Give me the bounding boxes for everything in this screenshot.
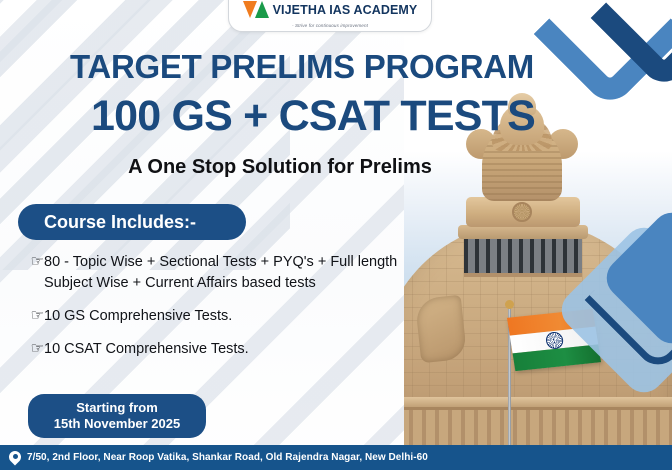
va-monogram-icon [243, 1, 269, 18]
academy-logo: VIJETHA IAS ACADEMY - Strive for continu… [228, 0, 432, 32]
pointing-hand-icon: ☜ [22, 253, 44, 272]
academy-tagline: - Strive for continuous improvement [292, 23, 368, 28]
list-item: ☜ 10 CSAT Comprehensive Tests. [22, 339, 442, 360]
promotional-poster: VIJETHA IAS ACADEMY - Strive for continu… [0, 0, 672, 470]
course-includes-list: ☜ 80 - Topic Wise + Sectional Tests + PY… [22, 252, 442, 372]
dome-drum-cap [458, 225, 588, 239]
pointing-hand-icon: ☜ [22, 340, 44, 359]
pillar-abacus [466, 197, 580, 227]
start-date-label: Starting from [76, 400, 158, 416]
ashoka-chakra-relief-icon [512, 202, 532, 222]
list-item: ☜ 80 - Topic Wise + Sectional Tests + PY… [22, 252, 442, 294]
academy-name: VIJETHA IAS ACADEMY [273, 3, 418, 17]
program-eyebrow-heading: TARGET PRELIMS PROGRAM [0, 48, 604, 86]
list-item-label: 10 CSAT Comprehensive Tests. [44, 339, 249, 360]
program-title-heading: 100 GS + CSAT TESTS [0, 92, 626, 141]
list-item: ☜ 10 GS Comprehensive Tests. [22, 306, 442, 327]
list-item-label: 10 GS Comprehensive Tests. [44, 306, 232, 327]
pointing-hand-icon: ☜ [22, 307, 44, 326]
dome-base-colonnade [404, 407, 672, 445]
course-includes-badge: Course Includes:- [18, 204, 246, 240]
address-text: 7/50, 2nd Floor, Near Roop Vatika, Shank… [27, 452, 428, 463]
start-date-value: 15th November 2025 [54, 416, 180, 432]
program-subtitle: A One Stop Solution for Prelims [0, 156, 560, 179]
dome-drum-railing [464, 235, 582, 277]
location-pin-icon [8, 450, 22, 466]
flagpole-finial [505, 300, 514, 309]
address-footer-bar: 7/50, 2nd Floor, Near Roop Vatika, Shank… [0, 445, 672, 470]
list-item-label: 80 - Topic Wise + Sectional Tests + PYQ'… [44, 252, 442, 294]
start-date-badge: Starting from 15th November 2025 [28, 394, 206, 438]
